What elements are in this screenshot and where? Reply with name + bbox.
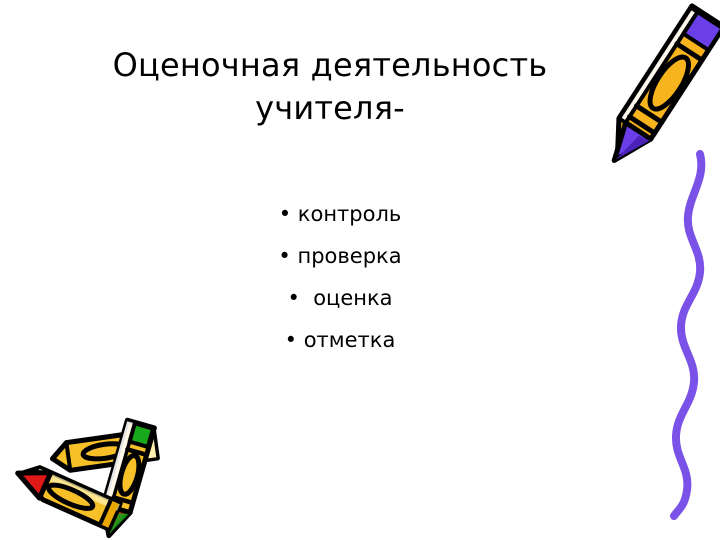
list-item: • отметка	[150, 319, 530, 361]
purple-squiggle-line-icon	[650, 150, 720, 520]
title-line-2: учителя-	[255, 89, 405, 127]
title-line-1: Оценочная деятельность	[113, 46, 548, 84]
list-item: • оценка	[150, 277, 530, 319]
list-item: • контроль	[150, 193, 530, 235]
page-title: Оценочная деятельностьучителя-	[60, 44, 600, 130]
list-item: • проверка	[150, 235, 530, 277]
bullet-list: • контроль • проверка • оценка • отметка	[150, 193, 530, 361]
slide-canvas: Оценочная деятельностьучителя- • контрол…	[0, 0, 720, 540]
crayon-top-right-icon	[580, 0, 720, 194]
crossed-crayons-icon	[8, 414, 188, 540]
